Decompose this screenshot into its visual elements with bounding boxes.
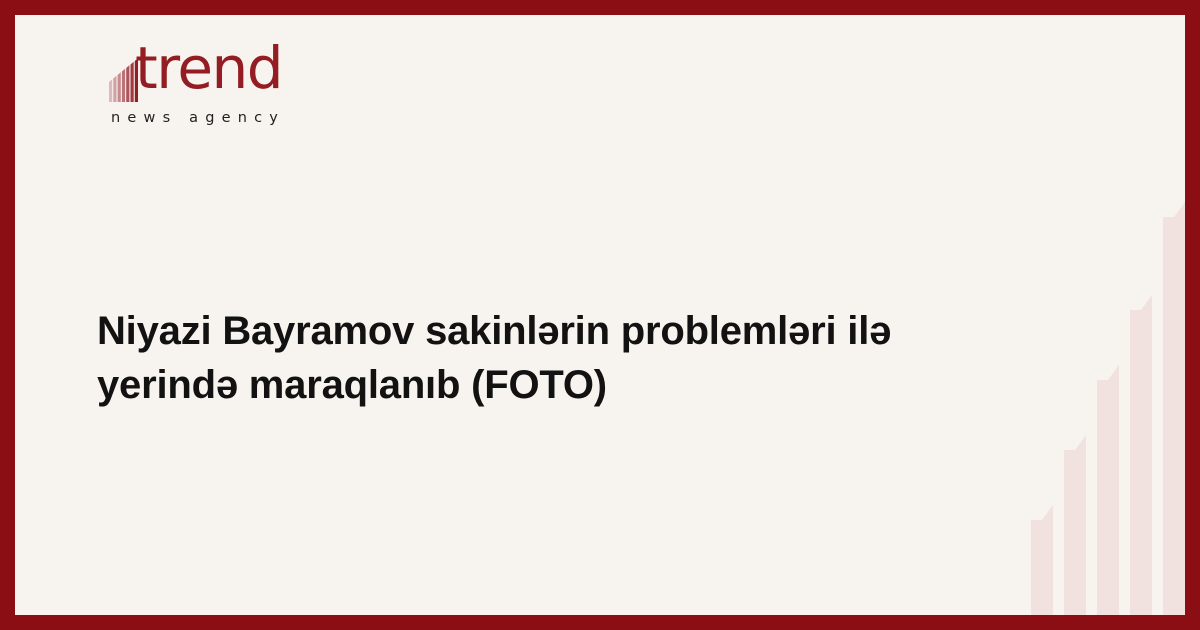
brand-logo[interactable]: trend news agency xyxy=(97,48,397,158)
card-canvas: trend news agency Niyazi Bayramov sakinl… xyxy=(15,15,1185,615)
brand-tagline: news agency xyxy=(111,110,285,126)
logo-top-row: trend xyxy=(97,48,397,106)
brand-wordmark: trend xyxy=(135,39,282,97)
ascending-bars-watermark-icon xyxy=(1025,175,1185,615)
social-share-card: trend news agency Niyazi Bayramov sakinl… xyxy=(0,0,1200,630)
article-headline: Niyazi Bayramov sakinlərin problemləri i… xyxy=(97,304,1002,412)
